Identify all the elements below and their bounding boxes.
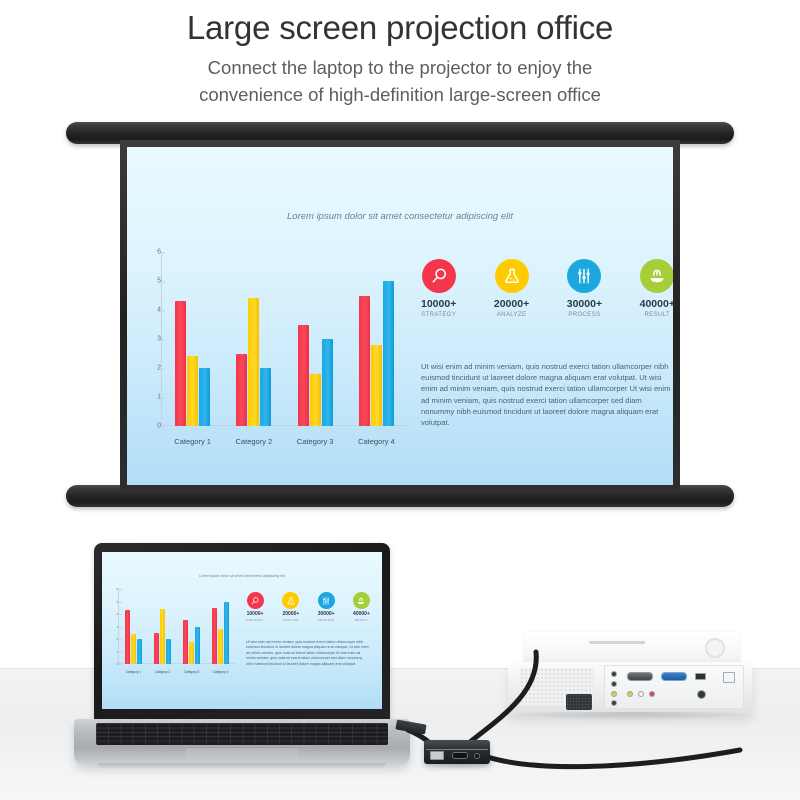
bar-group	[175, 252, 210, 426]
projection-screen: Lorem ipsum dolor sit amet consectetur a…	[66, 122, 734, 507]
stat-label: STRATEGY	[421, 312, 456, 318]
bar	[383, 281, 394, 426]
chart-category-labels: Category 1Category 2Category 3Category 4	[162, 437, 407, 446]
stat-item-process: 30000+PROCESS	[567, 259, 602, 318]
bar	[298, 325, 309, 427]
sliders-icon	[567, 259, 601, 293]
y-tick-0: 0	[139, 423, 161, 430]
laptop-slide-title: Lorem ipsum dolor sit amet consectetur a…	[102, 574, 382, 578]
category-label: Category 1	[174, 437, 211, 446]
screen-frame: Lorem ipsum dolor sit amet consectetur a…	[120, 140, 680, 490]
bar	[187, 356, 198, 426]
adapter-port-audio[interactable]	[474, 753, 480, 759]
y-tick-4: 4	[139, 307, 161, 314]
stat-value: 20000+	[494, 298, 529, 310]
stat-item-result: 40000+RESULT	[640, 259, 673, 318]
stat-label: PROCESS	[567, 312, 602, 318]
bar-group	[359, 252, 394, 426]
cable-projector-to-adapter	[470, 652, 536, 742]
y-tick-6: 6	[107, 587, 118, 591]
bar-chart: 0123456 Category 1Category 2Category 3Ca…	[139, 252, 411, 452]
bar	[199, 368, 210, 426]
category-label: Category 4	[358, 437, 395, 446]
adapter-edge-highlight	[426, 749, 488, 750]
bowl-icon	[640, 259, 673, 293]
stat-label: ANALYZE	[494, 312, 529, 318]
chart-bar-groups	[162, 252, 407, 426]
bar-group	[298, 252, 333, 426]
header: Large screen projection office Connect t…	[0, 6, 800, 108]
y-tick-3: 3	[139, 336, 161, 343]
stat-value: 30000+	[567, 298, 602, 310]
y-tick-6: 6	[139, 249, 161, 256]
category-label: Category 2	[236, 437, 273, 446]
category-label: Category 3	[297, 437, 334, 446]
page-subtitle-line-1: Connect the laptop to the projector to e…	[0, 54, 800, 81]
magnifier-icon	[422, 259, 456, 293]
stat-item-strategy: 10000+STRATEGY	[421, 259, 456, 318]
bar	[260, 368, 271, 426]
cable-adapter-tail	[470, 750, 740, 767]
stat-value: 10000+	[421, 298, 456, 310]
y-tick-5: 5	[139, 278, 161, 285]
bar	[359, 296, 370, 427]
bar	[175, 301, 186, 426]
bar	[236, 354, 247, 427]
cable-routing	[0, 600, 800, 800]
y-tick-1: 1	[139, 394, 161, 401]
bar	[322, 339, 333, 426]
bar	[310, 374, 321, 426]
stat-item-analyze: 20000+ANALYZE	[494, 259, 529, 318]
bar	[248, 298, 259, 426]
adapter-port-vga[interactable]	[452, 752, 468, 759]
slide-body-text: Ut wisi enim ad minim veniam, quis nostr…	[421, 361, 673, 428]
stat-value: 40000+	[640, 298, 673, 310]
y-tick-2: 2	[139, 365, 161, 372]
slide-title: Lorem ipsum dolor sit amet consectetur a…	[127, 211, 673, 222]
page-subtitle: Connect the laptop to the projector to e…	[0, 54, 800, 108]
bar	[371, 345, 382, 426]
vga-adapter-hub[interactable]	[424, 740, 490, 764]
projected-slide: Lorem ipsum dolor sit amet consectetur a…	[127, 147, 673, 485]
adapter-port-hdmi[interactable]	[430, 751, 444, 760]
stats-row: 10000+STRATEGY20000+ANALYZE30000+PROCESS…	[421, 259, 673, 318]
stat-label: RESULT	[640, 312, 673, 318]
flask-icon	[495, 259, 529, 293]
page-title: Large screen projection office	[0, 6, 800, 50]
page-subtitle-line-2: convenience of high-definition large-scr…	[0, 81, 800, 108]
bar-group	[236, 252, 271, 426]
